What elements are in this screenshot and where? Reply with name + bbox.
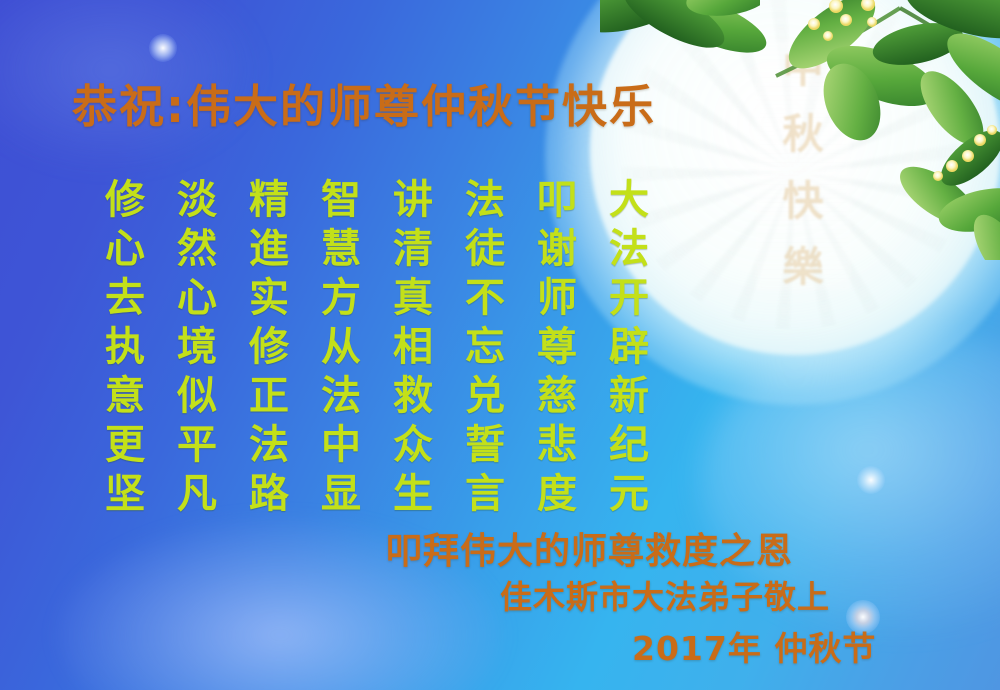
poem-char: 境 [172, 323, 222, 372]
moon-watermark-char-2: 秋 [783, 114, 824, 155]
poem-char: 言 [460, 470, 510, 519]
poem-char: 正 [244, 372, 294, 421]
poem-char: 誓 [460, 421, 510, 470]
poem-char: 元 [604, 470, 654, 519]
poem-char: 凡 [172, 470, 222, 519]
poem-char: 平 [172, 421, 222, 470]
poem-char: 从 [316, 323, 366, 372]
moon-watermark-char-1: 中 [783, 48, 824, 89]
poem-char: 谢 [532, 225, 582, 274]
poem-char: 慧 [316, 225, 366, 274]
poem-char: 执 [100, 323, 150, 372]
poem-char: 法 [604, 225, 654, 274]
poem-char: 悲 [532, 421, 582, 470]
moon-watermark-char-4: 樂 [783, 247, 824, 288]
poem-char: 徒 [460, 225, 510, 274]
poem-grid: 修 心 去 执 意 更 坚 淡 然 心 境 似 平 凡 精 進 实 修 正 法 … [100, 176, 654, 519]
poem-char: 意 [100, 372, 150, 421]
poem-char: 纪 [604, 421, 654, 470]
poem-column-8: 大 法 开 辟 新 纪 元 [604, 176, 654, 519]
poem-char: 去 [100, 274, 150, 323]
poem-char: 讲 [388, 176, 438, 225]
signature-line-date: 2017年 仲秋节 [632, 622, 876, 670]
sparkle-icon-1 [149, 34, 177, 62]
poem-char: 新 [604, 372, 654, 421]
poem-char: 修 [244, 323, 294, 372]
poem-char: 路 [244, 470, 294, 519]
poem-char: 尊 [532, 323, 582, 372]
poem-char: 精 [244, 176, 294, 225]
poem-char: 兑 [460, 372, 510, 421]
poem-char: 修 [100, 176, 150, 225]
poem-char: 度 [532, 470, 582, 519]
poem-char: 叩 [532, 176, 582, 225]
poem-column-2: 淡 然 心 境 似 平 凡 [172, 176, 222, 519]
poem-char: 法 [460, 176, 510, 225]
poem-char: 法 [316, 372, 366, 421]
poem-char: 忘 [460, 323, 510, 372]
poem-char: 然 [172, 225, 222, 274]
signature-line-sender: 佳木斯市大法弟子敬上 [500, 572, 830, 618]
poem-char: 师 [532, 274, 582, 323]
poem-char: 开 [604, 274, 654, 323]
page-title: 恭祝:伟大的师尊仲秋节快乐 [72, 70, 656, 135]
poem-column-6: 法 徒 不 忘 兑 誓 言 [460, 176, 510, 519]
moon-watermark-text: 中 秋 快 樂 [757, 48, 849, 288]
poem-char: 实 [244, 274, 294, 323]
poem-char: 進 [244, 225, 294, 274]
poem-char: 方 [316, 274, 366, 323]
poem-column-3: 精 進 实 修 正 法 路 [244, 176, 294, 519]
poem-char: 清 [388, 225, 438, 274]
poem-char: 中 [316, 421, 366, 470]
poem-char: 相 [388, 323, 438, 372]
sparkle-icon-2 [857, 466, 885, 494]
poem-char: 显 [316, 470, 366, 519]
poem-char: 坚 [100, 470, 150, 519]
poem-char: 淡 [172, 176, 222, 225]
poem-column-5: 讲 清 真 相 救 众 生 [388, 176, 438, 519]
poem-char: 真 [388, 274, 438, 323]
poem-char: 似 [172, 372, 222, 421]
poem-column-7: 叩 谢 师 尊 慈 悲 度 [532, 176, 582, 519]
poem-char: 慈 [532, 372, 582, 421]
signature-line-gratitude: 叩拜伟大的师尊救度之恩 [386, 522, 793, 574]
mid-autumn-greeting-card: 中 秋 快 樂 [0, 0, 1000, 690]
poem-char: 心 [172, 274, 222, 323]
poem-char: 众 [388, 421, 438, 470]
poem-column-1: 修 心 去 执 意 更 坚 [100, 176, 150, 519]
poem-char: 救 [388, 372, 438, 421]
poem-char: 生 [388, 470, 438, 519]
poem-char: 心 [100, 225, 150, 274]
moon-watermark-char-3: 快 [783, 181, 824, 222]
poem-char: 辟 [604, 323, 654, 372]
poem-char: 不 [460, 274, 510, 323]
poem-char: 更 [100, 421, 150, 470]
poem-char: 法 [244, 421, 294, 470]
poem-char: 智 [316, 176, 366, 225]
poem-column-4: 智 慧 方 从 法 中 显 [316, 176, 366, 519]
poem-char: 大 [604, 176, 654, 225]
